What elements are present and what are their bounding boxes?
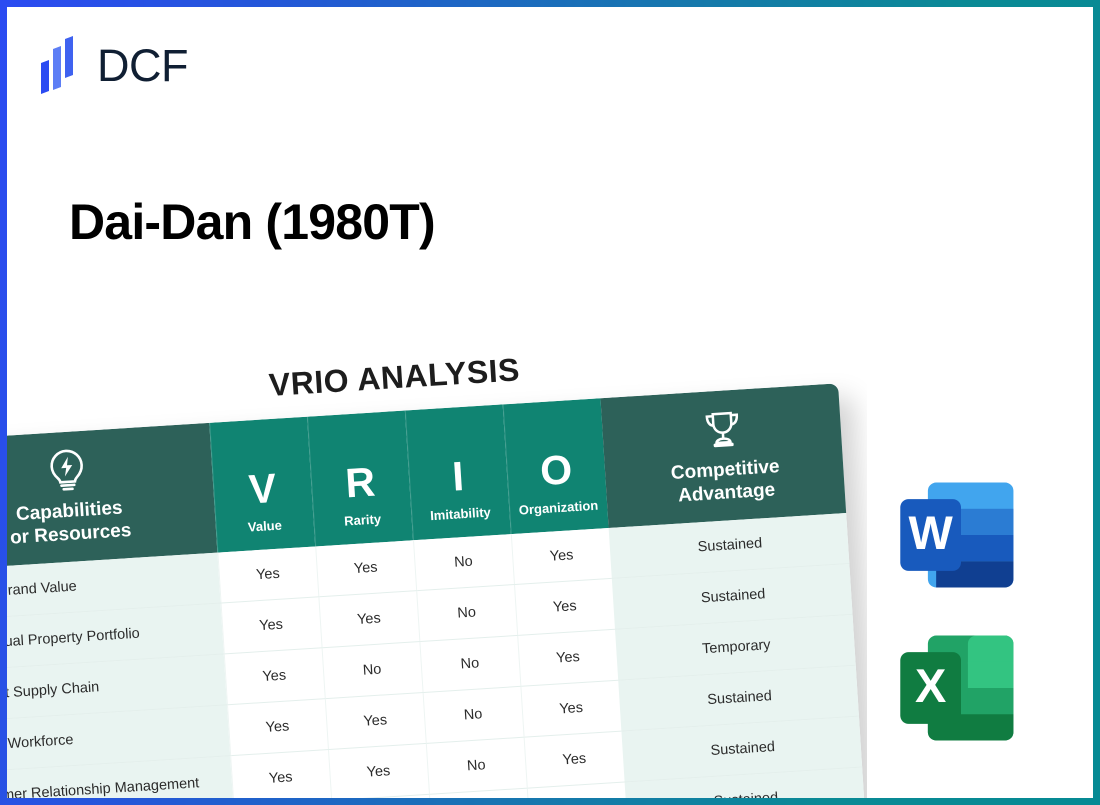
vrio-table-card: Capabilities or Resources V Value R [7, 383, 867, 798]
page-title: Dai-Dan (1980T) [69, 193, 435, 251]
organization-letter: O [510, 448, 602, 495]
vrio-analysis-graphic: VRIO ANALYSIS [7, 332, 867, 798]
cell-imitability: No [419, 636, 520, 693]
organization-label: Organization [513, 498, 603, 519]
word-icon-letter: W [908, 507, 953, 559]
cell-rarity: No [322, 642, 423, 699]
cell-imitability: No [426, 738, 527, 795]
column-header-competitive-advantage: Competitive Advantage [600, 383, 848, 528]
page-gradient-frame: DCF Dai-Dan (1980T) VRIO ANALYSIS [0, 0, 1100, 805]
vrio-table: Capabilities or Resources V Value R [7, 383, 867, 798]
column-header-value: V Value [209, 417, 315, 553]
cell-rarity: Yes [318, 591, 419, 648]
cell-imitability: No [416, 585, 517, 642]
column-header-organization: O Organization [503, 398, 609, 534]
page-canvas: DCF Dai-Dan (1980T) VRIO ANALYSIS [7, 7, 1093, 798]
value-letter: V [217, 466, 308, 513]
imitability-label: Imitability [416, 504, 506, 525]
cell-organization: Yes [524, 731, 625, 788]
word-document-icon[interactable]: W [892, 466, 1030, 604]
cell-rarity: Yes [315, 541, 416, 598]
cell-value: Yes [221, 597, 322, 654]
brand-logo[interactable]: DCF [37, 35, 188, 95]
cell-organization: Yes [520, 681, 621, 738]
rarity-label: Rarity [318, 510, 408, 531]
value-label: Value [220, 516, 310, 537]
rarity-letter: R [315, 460, 406, 507]
cell-value: Yes [230, 750, 331, 798]
vrio-heading: VRIO ANALYSIS [268, 351, 521, 404]
vrio-rotated-group: VRIO ANALYSIS [7, 332, 844, 379]
cell-value: Yes [217, 547, 318, 604]
excel-icon-letter: X [915, 660, 946, 712]
cell-organization: Yes [514, 579, 615, 636]
trophy-icon [701, 409, 745, 452]
cell-value: Yes [224, 648, 325, 705]
lightbulb-icon [45, 447, 88, 493]
column-header-imitability: I Imitability [405, 404, 511, 540]
imitability-letter: I [412, 454, 503, 501]
brand-name: DCF [97, 43, 188, 88]
column-header-capabilities: Capabilities or Resources [7, 423, 217, 571]
dcf-bars-logo-icon [37, 35, 83, 95]
cell-imitability: No [423, 687, 524, 744]
cell-rarity: Yes [328, 744, 429, 798]
cell-organization: Yes [511, 528, 612, 585]
cell-value: Yes [227, 699, 328, 756]
cell-rarity: Yes [325, 693, 426, 750]
cell-organization: Yes [517, 630, 618, 687]
cell-imitability: No [413, 534, 514, 591]
excel-spreadsheet-icon[interactable]: X [892, 619, 1030, 757]
column-header-rarity: R Rarity [307, 411, 413, 547]
